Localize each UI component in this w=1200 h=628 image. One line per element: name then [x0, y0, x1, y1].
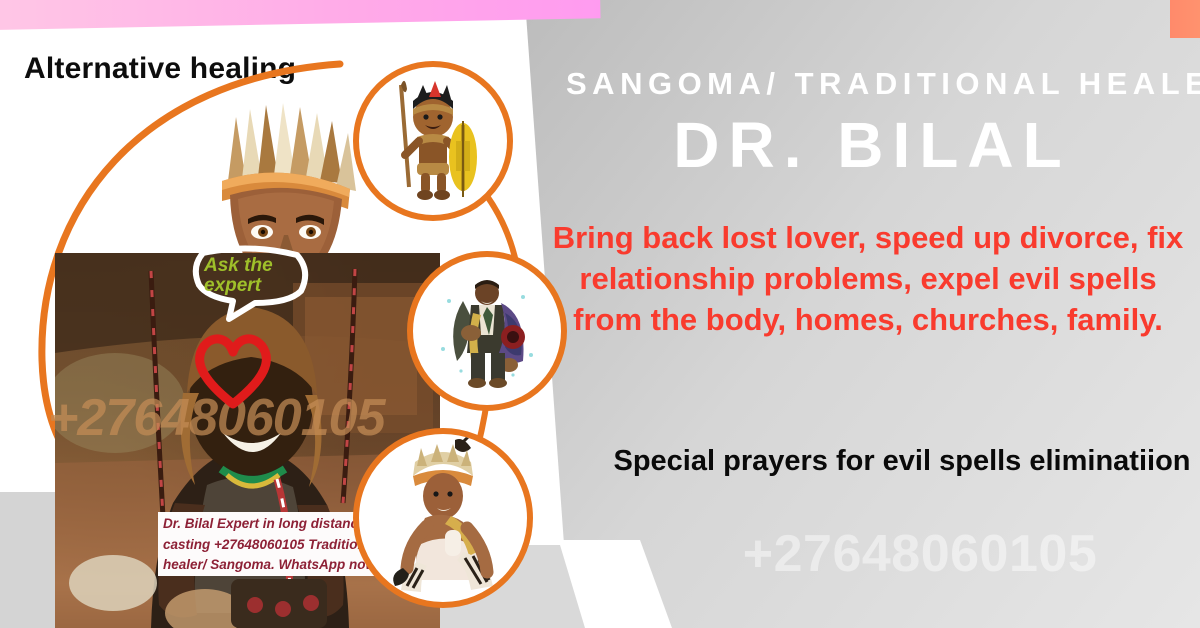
- page-title: Alternative healing: [24, 52, 296, 86]
- services-text: Bring back lost lover, speed up divorce,…: [548, 217, 1188, 341]
- healer-name: DR. BILAL: [566, 108, 1178, 182]
- diviner-with-shield-icon: [413, 257, 561, 405]
- subheading-text: Special prayers for evil spells eliminat…: [612, 443, 1192, 481]
- phone-watermark: +27648060105: [640, 524, 1200, 584]
- kicker-text: SANGOMA/ TRADITIONAL HEALER: [566, 66, 1178, 102]
- badge-diviner: [407, 251, 567, 411]
- badge-crouching-dancer: [353, 428, 533, 608]
- badge-zulu-warrior: [353, 61, 513, 221]
- crouching-dancer-icon: [359, 434, 527, 602]
- speech-bubble-text: Ask the expert: [204, 256, 308, 296]
- heart-icon: [190, 330, 276, 410]
- pink-accent-strip: [0, 0, 601, 30]
- zulu-warrior-icon: [359, 67, 507, 215]
- orange-accent-strip: [1170, 0, 1200, 38]
- poster-canvas: Alternative healing: [0, 0, 1200, 628]
